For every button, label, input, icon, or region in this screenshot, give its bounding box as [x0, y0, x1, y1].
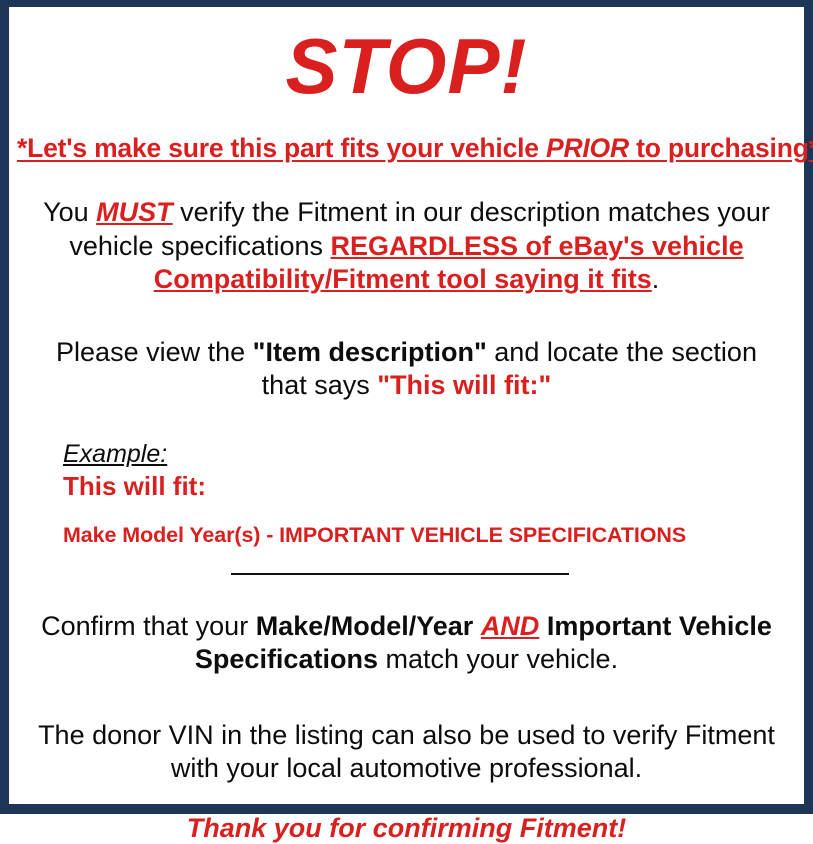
paragraph-confirm: Confirm that your Make/Model/Year AND Im… [17, 593, 796, 677]
subtitle-part-2: to purchasing* [629, 133, 813, 163]
must-emphasis: MUST [96, 197, 173, 227]
must-text-3: . [652, 264, 660, 294]
horizontal-divider [231, 573, 569, 575]
and-emphasis: AND [481, 611, 540, 641]
divider-wrapper [17, 549, 796, 593]
example-block: Example: This will fit: Make Model Year(… [17, 403, 796, 549]
must-text-1: You [43, 197, 96, 227]
example-spec-line: Make Model Year(s) - IMPORTANT VEHICLE S… [63, 502, 796, 549]
paragraph-must-verify: You MUST verify the Fitment in our descr… [17, 163, 796, 296]
subtitle-part-1: *Let's make sure this part fits your veh… [17, 133, 546, 163]
example-label-row: Example: [63, 441, 796, 468]
item-description-emphasis: "Item description" [253, 337, 487, 367]
confirm-space-1 [473, 611, 481, 641]
paragraph-donor-vin: The donor VIN in the listing can also be… [17, 677, 796, 786]
make-model-year-emphasis: Make/Model/Year [256, 611, 474, 641]
confirm-text-1: Confirm that your [41, 611, 256, 641]
fitment-notice-card: STOP! *Let's make sure this part fits yo… [0, 0, 813, 814]
confirm-space-2 [539, 611, 547, 641]
closing-thank-you: Thank you for confirming Fitment! [17, 786, 796, 844]
paragraph-item-description: Please view the "Item description" and l… [17, 297, 796, 403]
this-will-fit-emphasis: "This will fit:" [377, 370, 551, 400]
notice-content: STOP! *Let's make sure this part fits yo… [9, 7, 804, 804]
example-this-will-fit: This will fit: [63, 468, 796, 502]
confirm-text-2: match your vehicle. [378, 644, 618, 674]
example-label: Example: [63, 441, 167, 468]
subtitle-banner: *Let's make sure this part fits your veh… [17, 105, 796, 163]
itemdesc-text-1: Please view the [56, 337, 253, 367]
subtitle-emphasis-prior: PRIOR [546, 133, 629, 163]
page-title: STOP! [17, 7, 796, 105]
